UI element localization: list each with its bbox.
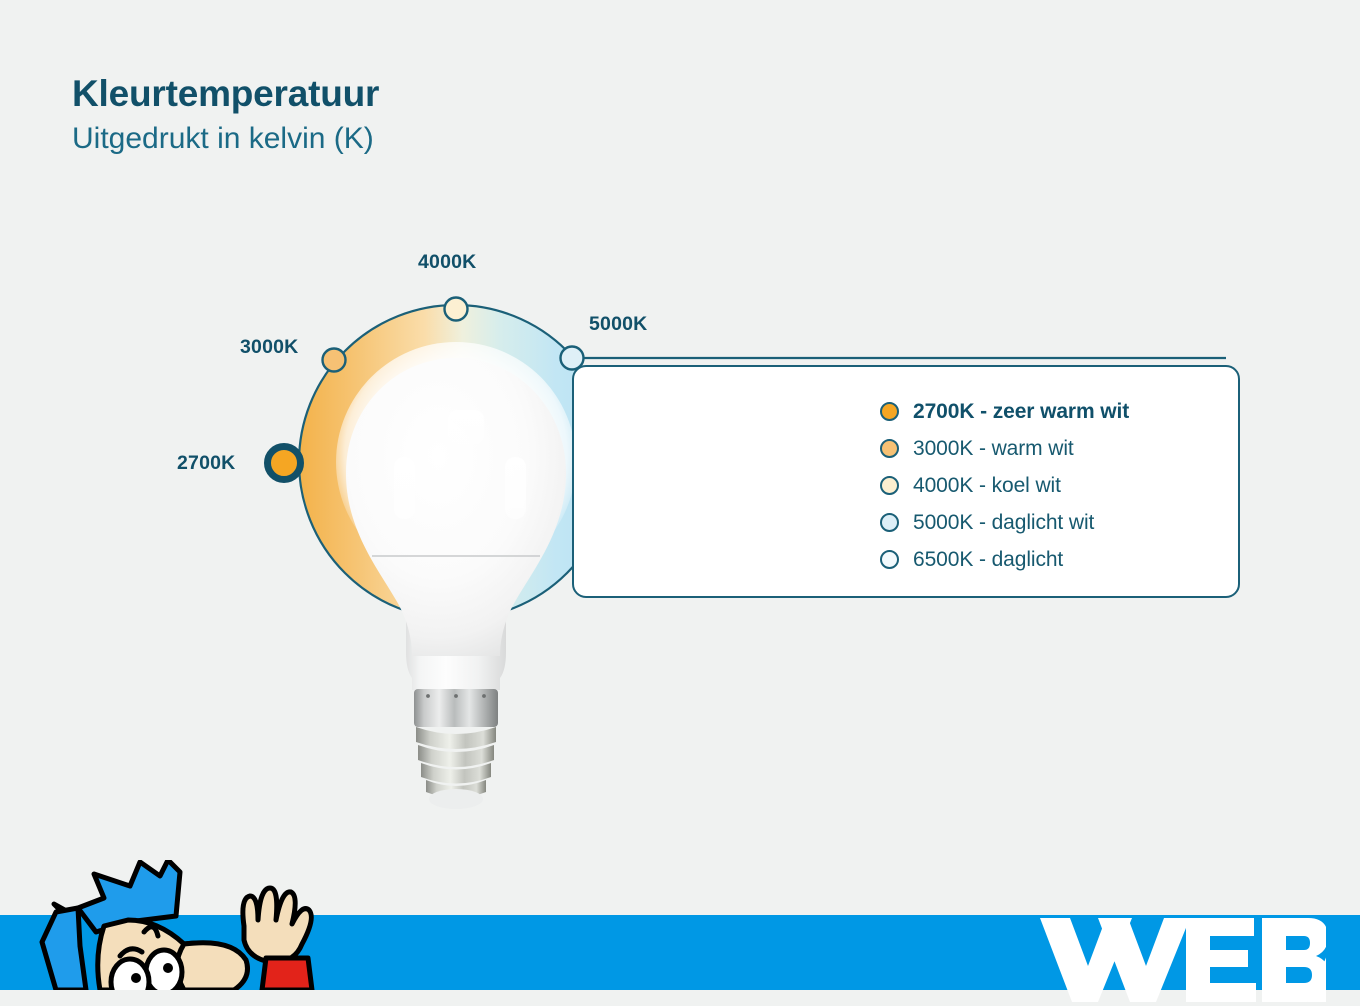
wheel-node-2700k[interactable] (268, 447, 301, 480)
wheel-label-3000k: 3000K (240, 336, 298, 359)
footer-band (0, 915, 1360, 990)
legend-item-3000k[interactable]: 3000K - warm wit (880, 430, 1129, 467)
mascot-nose (177, 943, 248, 990)
weba-logo (1036, 910, 1326, 1006)
legend-swatch-icon (880, 476, 899, 495)
mascot-hand (243, 888, 311, 962)
legend-swatch-icon (880, 402, 899, 421)
legend-item-6500k[interactable]: 6500K - daglicht (880, 541, 1129, 578)
legend-item-label: 5000K - daglicht wit (913, 511, 1094, 535)
wheel-label-2700k: 2700K (177, 452, 235, 475)
wheel-node-4000k[interactable] (445, 298, 468, 321)
legend-card: 2700K - zeer warm wit 3000K - warm wit 4… (572, 365, 1240, 598)
legend-item-label: 2700K - zeer warm wit (913, 400, 1129, 424)
legend-item-label: 3000K - warm wit (913, 437, 1074, 461)
legend-swatch-icon (880, 513, 899, 532)
infographic-stage: 2700K 3000K 4000K 5000K 6500K 2700K - ze… (0, 0, 1360, 915)
legend-item-2700k[interactable]: 2700K - zeer warm wit (880, 393, 1129, 430)
wheel-label-5000k: 5000K (589, 313, 647, 336)
mascot-pupil-right (163, 963, 173, 973)
wheel-node-3000k[interactable] (323, 349, 346, 372)
legend-item-5000k[interactable]: 5000K - daglicht wit (880, 504, 1129, 541)
mascot-pupil-left (131, 973, 141, 983)
mascot-hair-left (42, 908, 86, 990)
mascot-eye-left (111, 959, 149, 990)
weba-mascot (8, 860, 338, 990)
legend-swatch-icon (880, 550, 899, 569)
legend-swatch-icon (880, 439, 899, 458)
legend-item-4000k[interactable]: 4000K - koel wit (880, 467, 1129, 504)
legend-item-label: 4000K - koel wit (913, 474, 1061, 498)
wheel-label-4000k: 4000K (418, 251, 476, 274)
mascot-sleeve (262, 958, 312, 990)
legend-list: 2700K - zeer warm wit 3000K - warm wit 4… (880, 393, 1129, 578)
legend-item-label: 6500K - daglicht (913, 548, 1063, 572)
